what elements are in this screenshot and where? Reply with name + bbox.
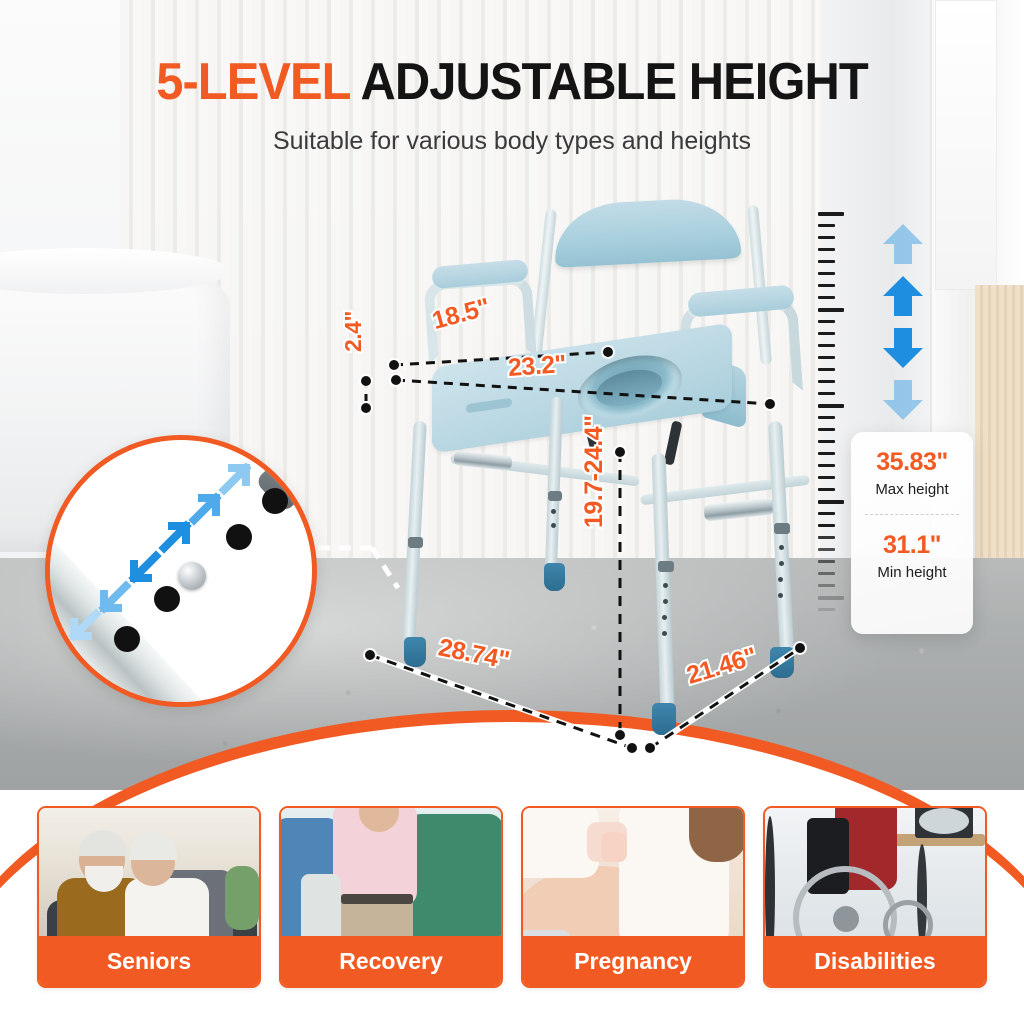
dimension-label-seat-width: 23.2" [507, 350, 567, 383]
tile-pregnancy[interactable]: Pregnancy [521, 806, 745, 988]
dim-endpoint [391, 375, 401, 385]
dim-endpoint [615, 447, 625, 457]
tile-label-seniors: Seniors [39, 936, 259, 986]
magnifier-detail-circle [45, 435, 317, 707]
magnified-adjust-hole [226, 524, 252, 550]
tile-photo-recovery [281, 808, 501, 936]
dim-endpoint [389, 360, 399, 370]
magnified-adjust-hole [114, 626, 140, 652]
dimension-label-seat-thickness: 2.4" [340, 311, 367, 352]
dimension-label-seat-height-range: 19.7-24.4" [580, 416, 609, 529]
subtitle: Suitable for various body types and heig… [0, 127, 1024, 156]
tile-label-disabilities: Disabilities [765, 936, 985, 986]
magnified-adjust-hole [154, 586, 180, 612]
dim-endpoint [765, 399, 775, 409]
arrow-up-right-icon [158, 520, 192, 554]
dim-endpoint [795, 643, 805, 653]
arrow-down-left-icon [68, 608, 102, 642]
max-height-label: Max height [859, 481, 965, 498]
dim-endpoint [615, 730, 625, 740]
tile-photo-seniors [39, 808, 259, 936]
tile-recovery[interactable]: Recovery [279, 806, 503, 988]
tile-label-recovery: Recovery [281, 936, 501, 986]
arrow-up-right-icon [218, 462, 252, 496]
dim-endpoint [627, 743, 637, 753]
height-info-card: 35.83" Max height 31.1" Min height [851, 432, 973, 634]
min-height-label: Min height [859, 564, 965, 581]
tile-disabilities[interactable]: Disabilities [763, 806, 987, 988]
magnified-adjust-hole [262, 488, 288, 514]
headline-accent: 5-LEVEL [156, 53, 350, 111]
tile-photo-pregnancy [523, 808, 743, 936]
dim-endpoint [361, 403, 371, 413]
arrow-up-right-icon [188, 492, 222, 526]
tile-seniors[interactable]: Seniors [37, 806, 261, 988]
headline-main: ADJUSTABLE HEIGHT [361, 53, 868, 111]
max-height-value: 35.83" [859, 448, 965, 477]
tile-photo-disabilities [765, 808, 985, 936]
use-case-tiles: Seniors Recovery Pregnancy [0, 806, 1024, 1024]
dim-endpoint [603, 347, 613, 357]
dim-endpoint [645, 743, 655, 753]
info-card-divider [865, 514, 959, 515]
spring-pin-button [178, 562, 206, 590]
arrow-down-left-icon [98, 580, 132, 614]
tile-label-pregnancy: Pregnancy [523, 936, 743, 986]
headline: 5-LEVEL ADJUSTABLE HEIGHT [31, 56, 994, 109]
min-height-value: 31.1" [859, 531, 965, 560]
dim-endpoint [365, 650, 375, 660]
arrow-down-left-icon [128, 550, 162, 584]
header-block: 5-LEVEL ADJUSTABLE HEIGHT Suitable for v… [0, 56, 1024, 156]
dim-endpoint [361, 376, 371, 386]
